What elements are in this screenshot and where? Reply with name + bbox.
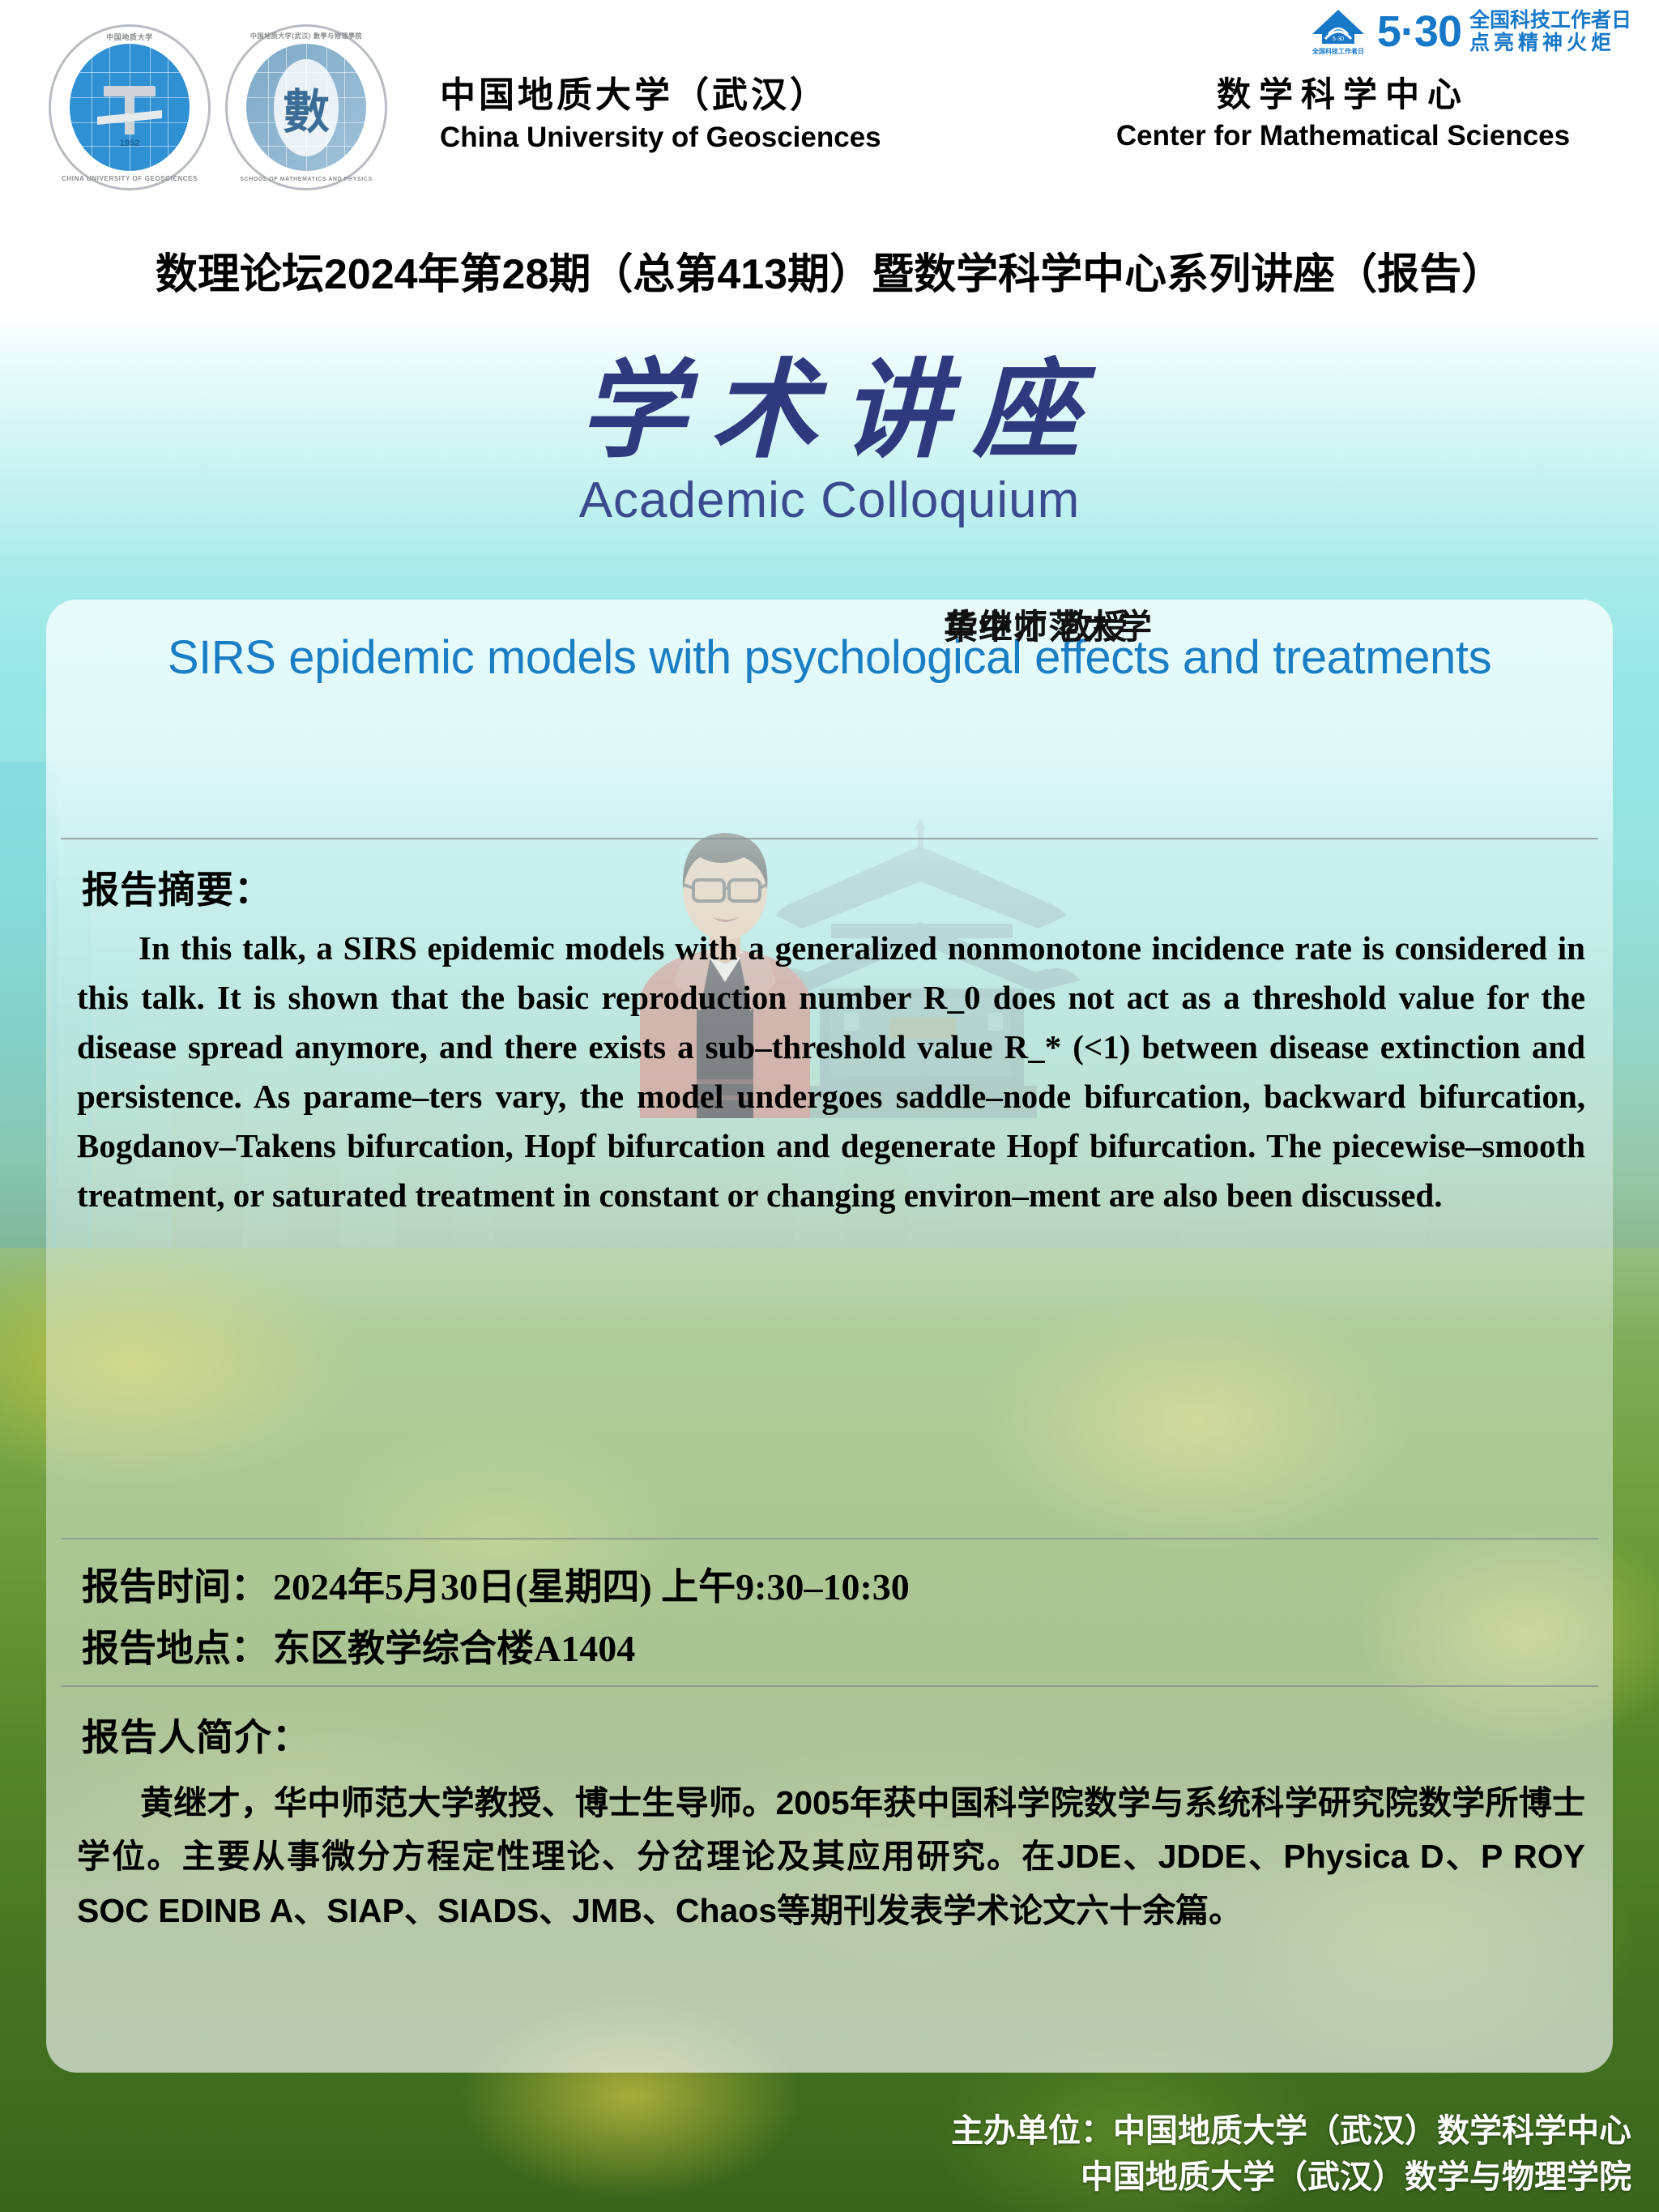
cug-seal-logo: 1952 中国地质大学 CHINA UNIVERSITY OF GEOSCIEN… [49,24,211,190]
series-title: 数理论坛2024年第28期（总第413期）暨数学科学中心系列讲座（报告） [0,240,1659,301]
talk-title: SIRS epidemic models with psychological … [46,630,1613,685]
day-logo-slogan-line1: 全国科技工作者日 [1469,9,1631,32]
calligraphy-title-cn: 学术讲座 [0,344,1659,478]
university-name-block: 中国地质大学（武汉） China University of Geoscienc… [440,75,881,156]
talk-time-value: 2024年5月30日(星期四) 上午9:30–10:30 [273,1566,910,1608]
bio-heading: 报告人简介： [82,1708,310,1761]
torch-mark-icon: 5·30 全国科技工作者日 [1307,6,1369,57]
calligraphy-title-block: 学术讲座 Academic Colloquium [0,344,1659,529]
day-logo-date: 5·30 [1377,10,1461,53]
academic-colloquium-poster: 1952 中国地质大学 CHINA UNIVERSITY OF GEOSCIEN… [0,0,1659,2212]
center-name-cn: 数学科学中心 [1051,75,1635,115]
divider-bio [61,1685,1598,1687]
poster-header: 1952 中国地质大学 CHINA UNIVERSITY OF GEOSCIEN… [0,0,1659,219]
calligraphy-title-en: Academic Colloquium [0,472,1659,529]
divider-abstract [61,838,1598,839]
abstract-text: In this talk, a SIRS epidemic models wit… [77,924,1585,1220]
divider-details [61,1538,1598,1539]
speaker-affiliation: 华中师范大学 [944,600,1153,649]
svg-text:5·30: 5·30 [1333,36,1344,42]
talk-place-line: 报告地点：东区教学综合楼A1404 [82,1619,635,1672]
talk-place-value: 东区教学综合楼A1404 [273,1628,635,1669]
footer-line-1: 主办单位：中国地质大学（武汉）数学科学中心 [951,2108,1631,2154]
math-school-seal-logo: 數 中国地质大学(武汉) 數學与物理學院 SCHOOL OF MATHEMATI… [225,24,387,190]
content-card: SIRS epidemic models with psychological … [46,600,1613,2073]
center-name-block: 数学科学中心 Center for Mathematical Sciences [1051,75,1635,153]
university-name-cn: 中国地质大学（武汉） [440,75,881,117]
footer-line-2: 中国地质大学（武汉）数学与物理学院 [951,2154,1631,2201]
talk-time-line: 报告时间：2024年5月30日(星期四) 上午9:30–10:30 [82,1557,910,1611]
university-name-en: China University of Geosciences [440,120,881,156]
day-logo-slogan: 全国科技工作者日 点亮精神火炬 [1469,9,1631,54]
center-name-en: Center for Mathematical Sciences [1051,118,1635,154]
talk-time-label: 报告时间： [82,1565,268,1608]
poster-footer: 主办单位：中国地质大学（武汉）数学科学中心 中国地质大学（武汉）数学与物理学院 [951,2108,1631,2201]
bio-text: 黄继才，华中师范大学教授、博士生导师。2005年获中国科学院数学与系统科学研究院… [77,1776,1585,1937]
torch-mark-caption: 全国科技工作者日 [1311,47,1364,55]
institution-logos: 1952 中国地质大学 CHINA UNIVERSITY OF GEOSCIEN… [49,24,387,190]
science-workers-day-logo: 5·30 全国科技工作者日 5·30 全国科技工作者日 点亮精神火炬 [1307,6,1631,57]
talk-place-label: 报告地点： [82,1627,268,1669]
day-logo-slogan-line2: 点亮精神火炬 [1469,32,1631,54]
abstract-heading: 报告摘要： [82,860,272,914]
